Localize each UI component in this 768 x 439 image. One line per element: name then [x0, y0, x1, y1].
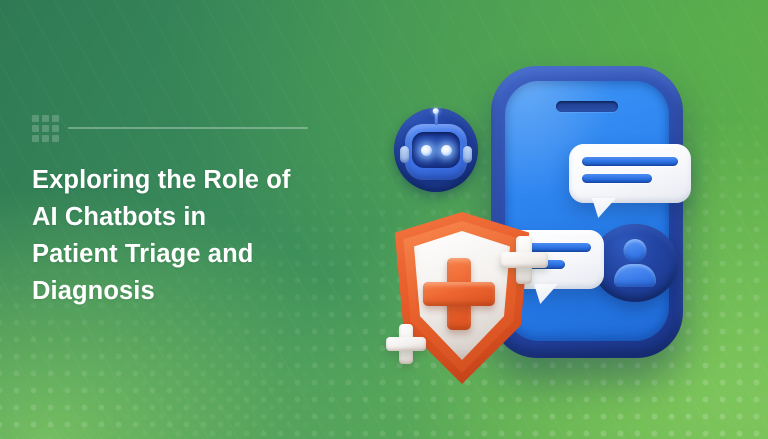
user-avatar-head — [624, 239, 647, 262]
eyebrow — [32, 112, 362, 144]
robot-antenna — [435, 113, 438, 125]
hero-banner: Exploring the Role of AI Chatbots in Pat… — [0, 0, 768, 439]
robot-ear-right — [463, 146, 472, 163]
headline-line-1: Exploring the Role of — [32, 162, 362, 199]
floating-cross-icon — [386, 324, 426, 364]
robot-ear-left — [400, 146, 409, 163]
chat-bubble-incoming — [569, 144, 691, 203]
ai-healthcare-chatbot-illustration — [374, 52, 734, 400]
floating-cross-icon — [500, 236, 548, 284]
medical-shield-icon — [392, 212, 532, 384]
chat-bubble-text-bar — [582, 157, 678, 166]
robot-eye-left — [421, 145, 432, 156]
text-block: Exploring the Role of AI Chatbots in Pat… — [32, 112, 362, 310]
user-avatar-icon — [592, 224, 678, 302]
user-avatar-body — [614, 264, 656, 287]
robot-face-screen — [412, 132, 460, 168]
medical-cross-icon — [423, 282, 495, 306]
robot-avatar-icon — [394, 108, 478, 192]
page-title: Exploring the Role of AI Chatbots in Pat… — [32, 162, 362, 310]
headline-line-3: Patient Triage and — [32, 236, 362, 273]
phone-speaker — [556, 101, 618, 112]
headline-line-2: AI Chatbots in — [32, 199, 362, 236]
dot-grid-icon — [32, 115, 58, 141]
robot-eye-right — [441, 145, 452, 156]
chat-bubble-text-bar — [582, 174, 652, 183]
horizontal-rule — [68, 127, 308, 129]
robot-head — [405, 124, 467, 180]
headline-line-4: Diagnosis — [32, 273, 362, 310]
